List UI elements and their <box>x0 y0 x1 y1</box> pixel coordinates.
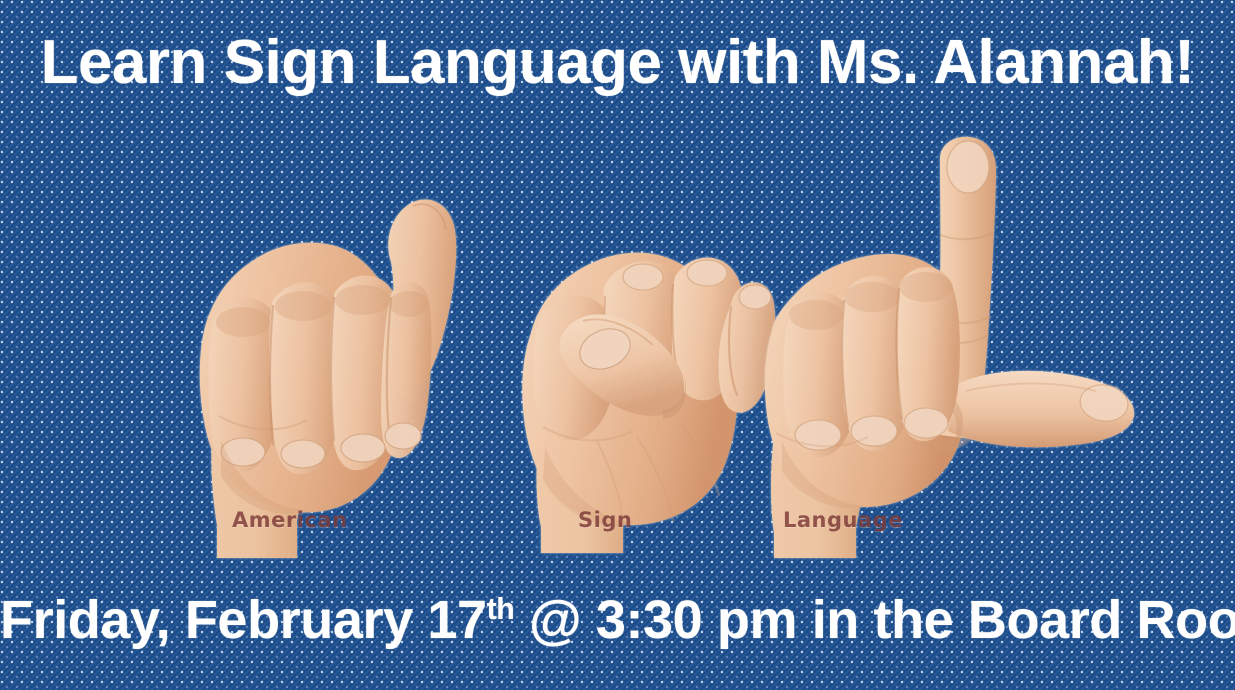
event-date-prefix: Friday, February 17 <box>0 590 487 650</box>
poster-canvas: Learn Sign Language with Ms. Alannah! <box>0 0 1235 690</box>
asl-letter-l-hand-icon <box>760 135 1150 565</box>
event-details: Friday, February 17th @ 3:30 pm in the B… <box>0 592 1235 649</box>
asl-letter-s-hand-icon <box>505 215 785 560</box>
asl-letter-a-hand-icon <box>185 190 485 565</box>
ordinal-suffix: th <box>487 593 515 626</box>
event-time-location: @ 3:30 pm in the Board Room <box>514 590 1235 650</box>
page-title: Learn Sign Language with Ms. Alannah! <box>0 30 1235 95</box>
